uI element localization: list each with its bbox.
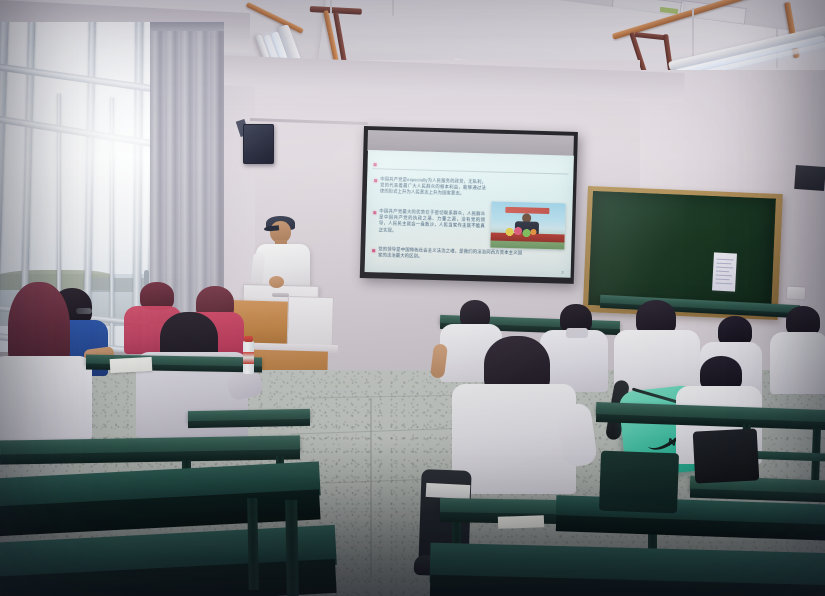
bullet-square-icon [373,211,376,214]
glasses-icon [76,308,92,314]
paper-on-desk [110,357,153,373]
trouser-stripe [426,483,471,499]
student-torso [0,356,92,440]
slide-embedded-photo [490,201,565,249]
window-curtain [150,24,224,324]
bullet-square-icon [374,179,377,182]
slide-bullet-1: 中国共产党是especially为人民服务的政党，无私利，党的代表着最广大人民群… [374,176,486,198]
bottle-cap [244,336,253,342]
lectern-handle [272,293,289,297]
slide-bullet-3: 党的领导是中国特色社会主义法治之魂，是我们的法治同西方资本主义国家的法治最大的区… [372,246,522,263]
student-torso [770,332,825,394]
slide-page-number: 3 [561,269,563,274]
corner-monitor [794,165,825,191]
chair-back [599,451,679,514]
desk-leg-foreground [247,498,259,590]
paper-on-desk [498,515,544,529]
slide-bullet-2: 中国共产党最大的优势在于密切联系群众，人民群众是中国共产党的执政之基、力量之源，… [373,208,486,236]
light-hanger [692,8,694,60]
student-torso [540,330,608,392]
slide-bullet-marker [374,163,377,166]
bag-on-desk [693,428,760,483]
projected-slide: 中国共产党是especially为人民服务的政党，无私利，党的代表着最广大人民群… [365,150,574,278]
light-hanger [392,0,394,16]
photo-flowers [503,226,537,239]
student-collar [566,328,588,338]
classroom-photo: 中国共产党是especially为人民服务的政党，无私利，党的代表着最广大人民群… [0,0,825,596]
wall-notice-paper [712,252,737,291]
lectern-white-panel [287,296,334,349]
desk-leg-foreground [285,500,299,596]
bottle-label [243,352,254,364]
photo-stage-base [490,240,564,249]
presenter-hand [269,276,284,288]
slide-divider [372,168,568,174]
blackboard-glare [588,191,776,313]
bullet-square-icon [372,249,375,252]
curtain-rail [150,22,224,31]
light-hanger [330,0,332,14]
wall-speaker-icon [243,124,274,164]
light-switch[interactable] [786,285,807,300]
